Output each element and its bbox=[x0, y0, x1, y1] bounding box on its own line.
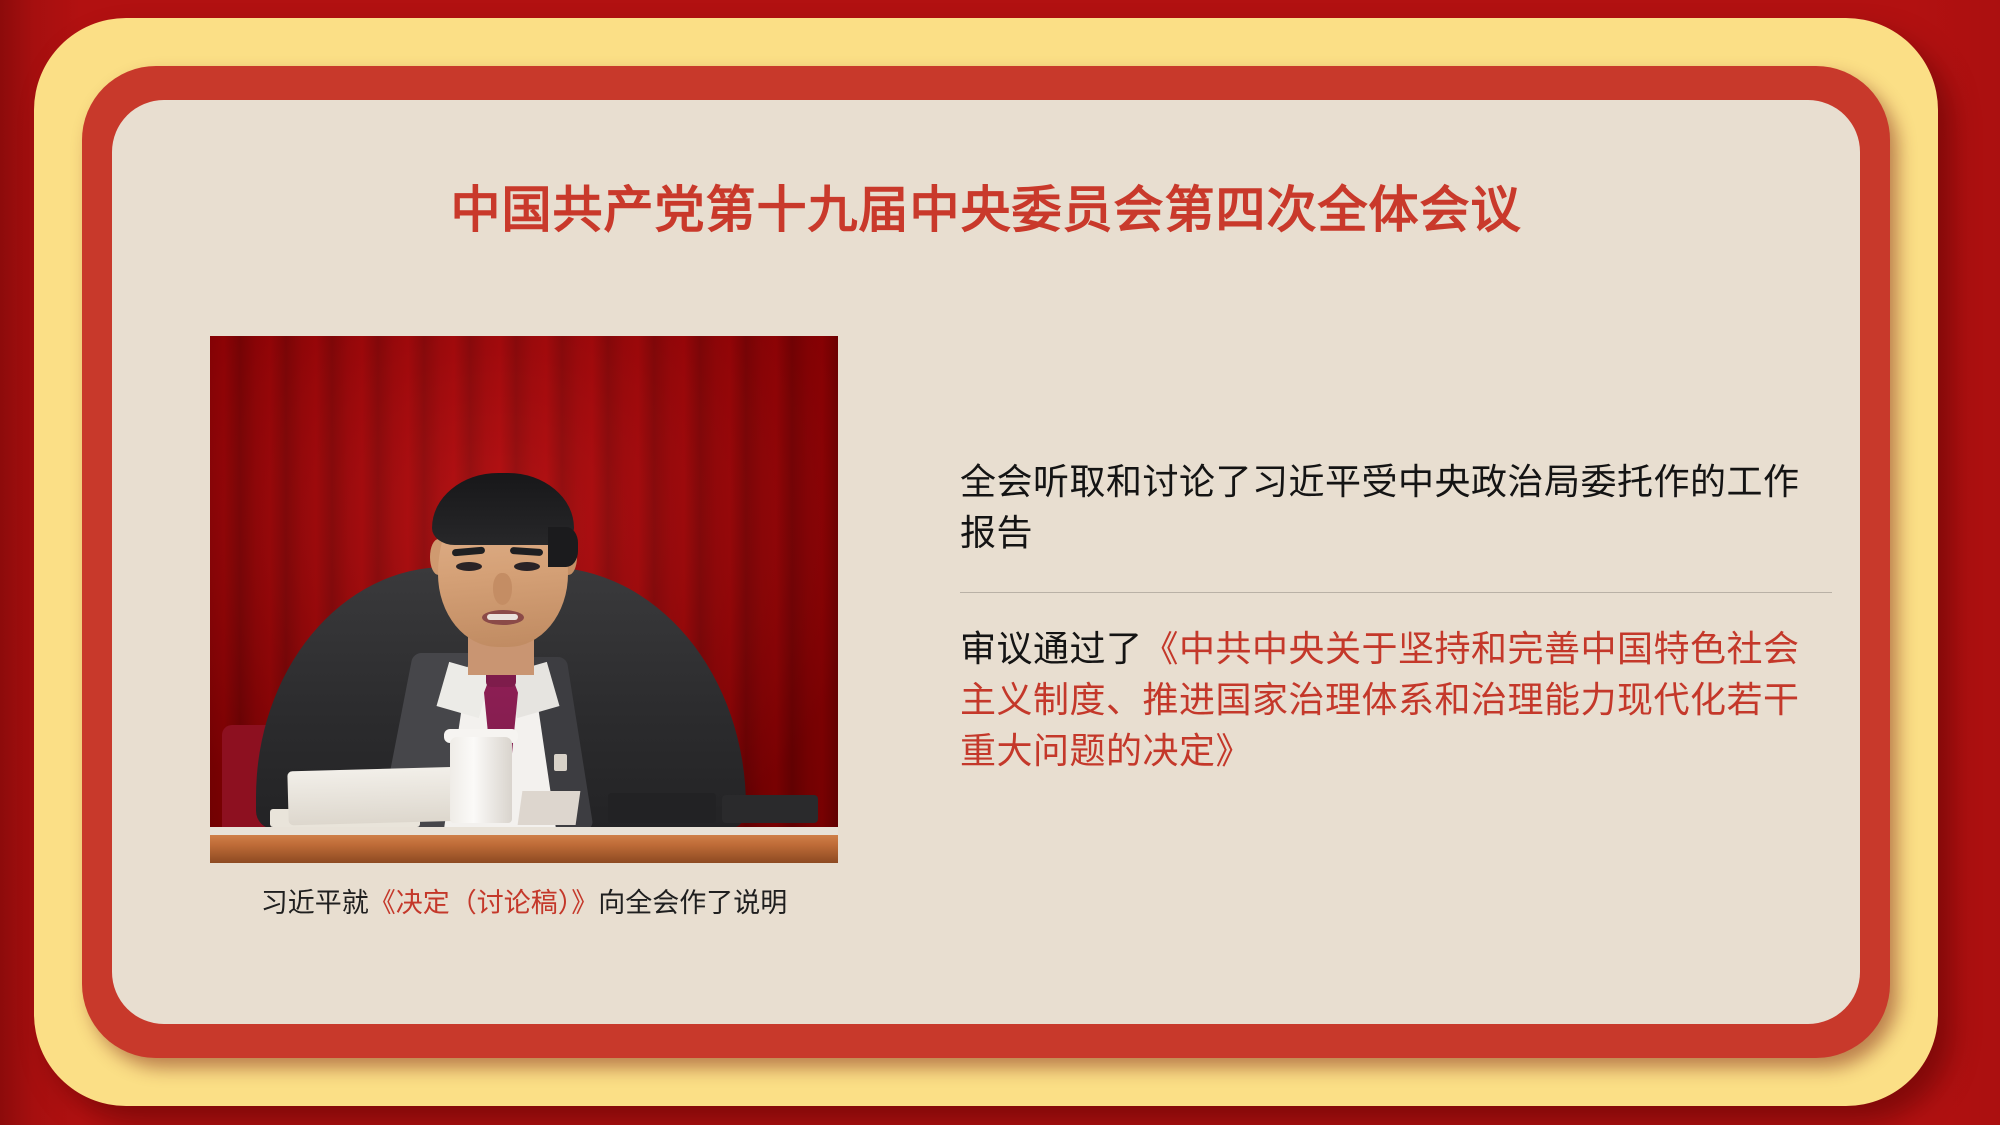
paragraph-decision-adopted: 审议通过了《中共中央关于坚持和完善中国特色社会主义制度、推进国家治理体系和治理能… bbox=[960, 623, 1832, 776]
figure-eye-right bbox=[514, 562, 540, 571]
body-text-column: 全会听取和讨论了习近平受中央政治局委托作的工作报告 审议通过了《中共中央关于坚持… bbox=[960, 456, 1832, 777]
figure-teeth bbox=[487, 614, 518, 620]
photo-caption: 习近平就《决定（讨论稿）》向全会作了说明 bbox=[210, 885, 838, 921]
caption-trail: 向全会作了说明 bbox=[598, 888, 787, 918]
page-title: 中国共产党第十九届中央委员会第四次全体会议 bbox=[112, 180, 1860, 240]
desk-device bbox=[722, 795, 818, 823]
content-panel: 中国共产党第十九届中央委员会第四次全体会议 bbox=[112, 100, 1860, 1024]
caption-highlight: 《决定（讨论稿）》 bbox=[369, 888, 599, 918]
paragraph-lead: 审议通过了 bbox=[960, 628, 1143, 669]
teacup bbox=[450, 737, 512, 823]
paragraph-lead: 全会听取和讨论了习近平受中央政治局委托作的工作报告 bbox=[960, 461, 1800, 553]
figure-eye-left bbox=[456, 562, 482, 571]
desk-front-edge bbox=[210, 827, 838, 835]
photo-block: 习近平就《决定（讨论稿）》向全会作了说明 bbox=[210, 336, 838, 921]
desk-device bbox=[608, 793, 716, 823]
desk-documents bbox=[287, 767, 466, 826]
slide-root: 中国共产党第十九届中央委员会第四次全体会议 bbox=[0, 0, 2000, 1125]
paragraph-divider bbox=[960, 592, 1832, 593]
desk-name-card bbox=[518, 791, 581, 825]
meeting-photo bbox=[210, 336, 838, 863]
paragraph-work-report: 全会听取和讨论了习近平受中央政治局委托作的工作报告 bbox=[960, 456, 1832, 558]
caption-lead: 习近平就 bbox=[261, 888, 369, 918]
lapel-badge bbox=[554, 754, 567, 771]
figure-nose bbox=[493, 573, 512, 605]
